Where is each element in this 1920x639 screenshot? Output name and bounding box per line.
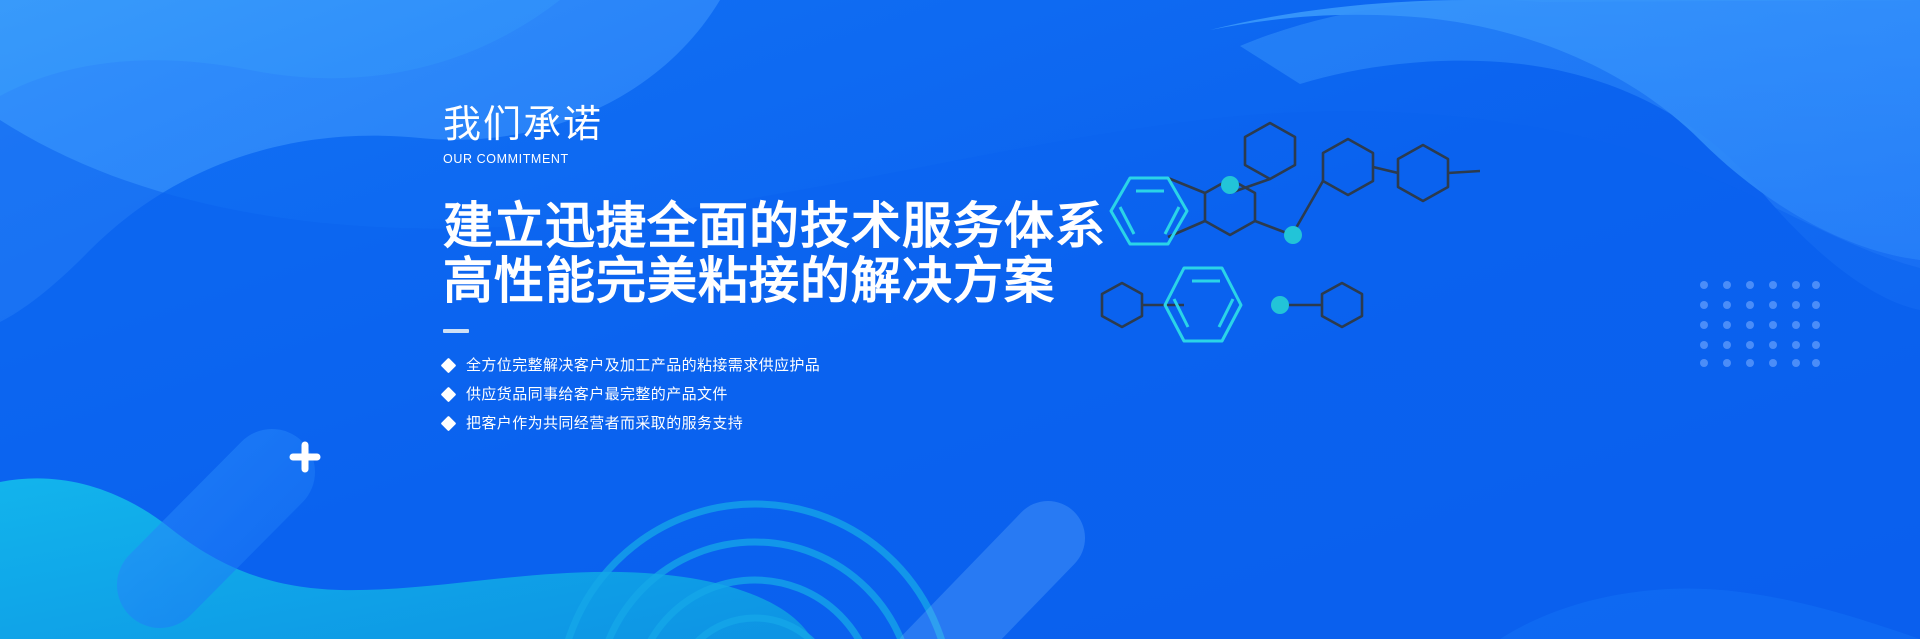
list-item-label: 全方位完整解决客户及加工产品的粘接需求供应护品 — [466, 355, 820, 377]
diamond-bullet-icon — [441, 387, 457, 403]
list-item-label: 供应货品同事给客户最完整的产品文件 — [466, 384, 728, 406]
list-item: 全方位完整解决客户及加工产品的粘接需求供应护品 — [443, 353, 1103, 378]
promo-banner: 我们承诺 OUR COMMITMENT 建立迅捷全面的技术服务体系 高性能完美粘… — [0, 0, 1920, 639]
list-item-label: 把客户作为共同经营者而采取的服务支持 — [466, 413, 743, 435]
eyebrow-title-en: OUR COMMITMENT — [443, 151, 1103, 167]
headline-line-1: 建立迅捷全面的技术服务体系 — [443, 199, 1103, 254]
bullet-list: 全方位完整解决客户及加工产品的粘接需求供应护品 供应货品同事给客户最完整的产品文… — [443, 353, 1103, 436]
diamond-bullet-icon — [441, 358, 457, 374]
list-item: 供应货品同事给客户最完整的产品文件 — [443, 382, 1103, 407]
dot-grid-icon — [1698, 279, 1822, 367]
plus-icon — [288, 440, 322, 474]
eyebrow-title-cn: 我们承诺 — [443, 103, 1103, 147]
molecule-nodes — [1221, 176, 1302, 314]
molecule-hexagon-icon — [1080, 115, 1480, 345]
headline: 建立迅捷全面的技术服务体系 高性能完美粘接的解决方案 — [443, 199, 1103, 309]
list-item: 把客户作为共同经营者而采取的服务支持 — [443, 411, 1103, 436]
diamond-bullet-icon — [441, 416, 457, 432]
headline-line-2: 高性能完美粘接的解决方案 — [443, 254, 1103, 309]
divider — [443, 329, 469, 333]
banner-content: 我们承诺 OUR COMMITMENT 建立迅捷全面的技术服务体系 高性能完美粘… — [443, 103, 1103, 440]
